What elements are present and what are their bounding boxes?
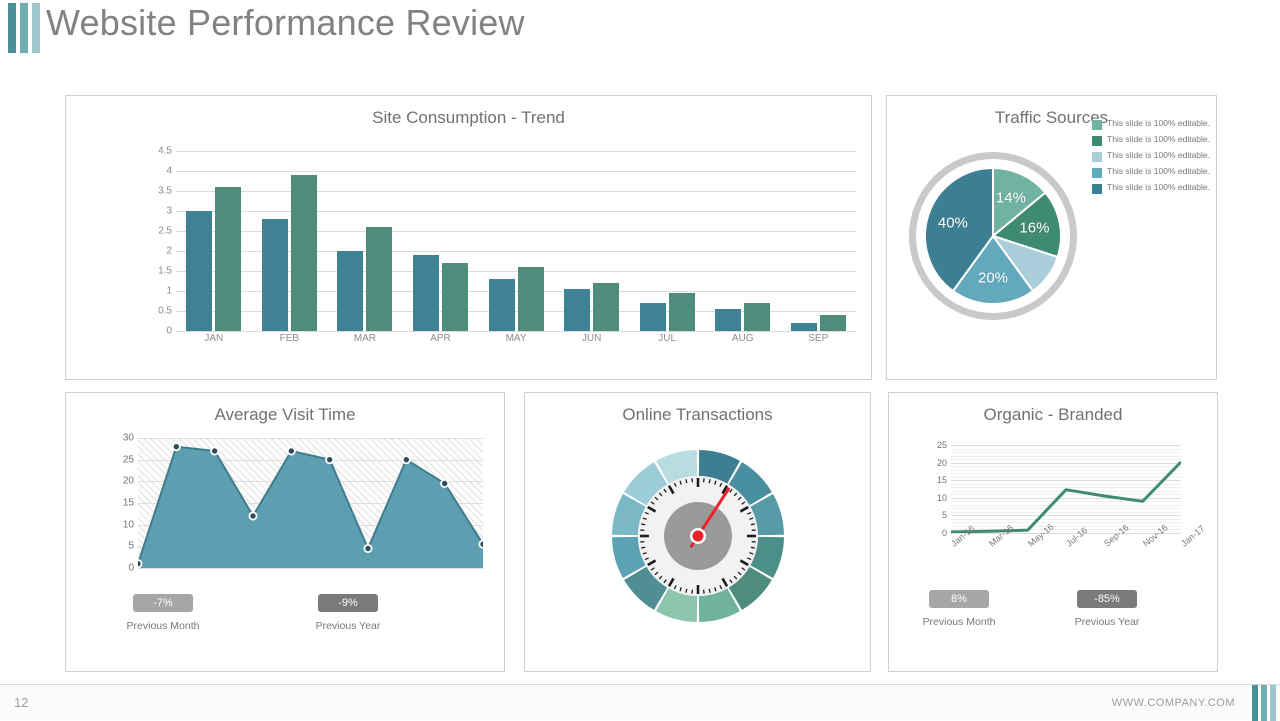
legend-item[interactable]: This slide is 100% editable. <box>1092 118 1217 130</box>
legend-label: This slide is 100% editable. <box>1107 166 1210 177</box>
stat-badge: 8% <box>929 590 989 608</box>
gauge-dial <box>610 448 786 624</box>
data-point-marker[interactable] <box>211 447 218 454</box>
card-title-average-visit-time: Average Visit Time <box>66 405 504 425</box>
gauge-minor-tick <box>685 589 686 593</box>
line-y-tick-label: 20 <box>937 458 947 468</box>
bar-x-tick-label: MAR <box>327 333 403 344</box>
pie-slice-label: 40% <box>938 214 968 231</box>
legend-item[interactable]: This slide is 100% editable. <box>1092 134 1217 146</box>
bar-y-tick-label: 2.5 <box>158 226 172 237</box>
bar[interactable] <box>518 267 544 331</box>
stat-block: -9%Previous Year <box>273 593 423 632</box>
card-average-visit-time: Average Visit Time 051015202530 -7%Previ… <box>65 392 505 672</box>
gauge-minor-tick <box>750 547 754 548</box>
bar-x-tick-label: JAN <box>176 333 252 344</box>
bar[interactable] <box>820 315 846 331</box>
stat-caption: Previous Year <box>273 620 423 632</box>
bar-y-tick-label: 4.5 <box>158 146 172 157</box>
gauge-minor-tick <box>709 589 710 593</box>
bar-x-tick-label: AUG <box>705 333 781 344</box>
bar-chart-x-axis: JANFEBMARAPRMAYJUNJULAUGSEP <box>176 333 856 344</box>
data-point-marker[interactable] <box>441 480 448 487</box>
bar-x-tick-label: SEP <box>781 333 857 344</box>
bar-x-tick-label: JUN <box>554 333 630 344</box>
bar-chart-y-axis: 00.511.522.533.544.5 <box>144 151 172 331</box>
stat-badge: -85% <box>1077 590 1137 608</box>
card-title-online-transactions: Online Transactions <box>525 405 870 425</box>
bar-y-tick-label: 0 <box>166 326 172 337</box>
legend-swatch <box>1092 136 1102 146</box>
line-chart-x-axis: Jan-16Mar-16May-16Jul-16Sep-16Nov-16Jan-… <box>951 537 1181 577</box>
bar-x-tick-label: APR <box>403 333 479 344</box>
bar-x-tick-label: JUL <box>629 333 705 344</box>
area-chart-series <box>138 438 483 568</box>
card-title-site-consumption: Site Consumption - Trend <box>66 108 871 128</box>
bar[interactable] <box>186 211 212 331</box>
stat-caption: Previous Month <box>88 620 238 632</box>
area-chart-y-axis: 051015202530 <box>108 438 134 568</box>
gridline <box>138 568 483 569</box>
bar-y-tick-label: 2 <box>166 246 172 257</box>
bar-group[interactable] <box>327 151 403 331</box>
stat-block: 8%Previous Month <box>884 589 1034 628</box>
data-point-marker[interactable] <box>403 456 410 463</box>
pie-slice-label: 20% <box>978 270 1008 287</box>
bar[interactable] <box>413 255 439 331</box>
legend-label: This slide is 100% editable. <box>1107 134 1210 145</box>
line-chart-plot: 0510152025 Jan-16Mar-16May-16Jul-16Sep-1… <box>951 445 1181 533</box>
legend-swatch <box>1092 120 1102 130</box>
bar-group[interactable] <box>705 151 781 331</box>
pie-legend: This slide is 100% editable.This slide i… <box>1092 118 1217 198</box>
data-point-marker[interactable] <box>288 447 295 454</box>
data-point-marker[interactable] <box>173 443 180 450</box>
bar-group[interactable] <box>252 151 328 331</box>
footer-accent-bar-1 <box>1252 685 1258 721</box>
page-number: 12 <box>14 695 28 710</box>
footer-accent-bar-2 <box>1261 685 1267 721</box>
bar[interactable] <box>669 293 695 331</box>
stat-caption: Previous Year <box>1032 616 1182 628</box>
gridline <box>951 533 1181 534</box>
area-y-tick-label: 30 <box>123 433 134 444</box>
line-y-tick-label: 15 <box>937 475 947 485</box>
bar[interactable] <box>564 289 590 331</box>
card-title-organic-branded: Organic - Branded <box>889 405 1217 425</box>
gridline <box>176 331 856 332</box>
gauge-minor-tick <box>685 479 686 483</box>
data-point-marker[interactable] <box>249 512 256 519</box>
legend-label: This slide is 100% editable. <box>1107 118 1210 129</box>
line-series <box>951 462 1181 532</box>
bar[interactable] <box>791 323 817 331</box>
gauge-minor-tick <box>641 524 645 525</box>
gauge-needle-cap <box>692 531 703 542</box>
legend-item[interactable]: This slide is 100% editable. <box>1092 182 1217 194</box>
data-point-marker[interactable] <box>138 560 142 567</box>
gauge-minor-tick <box>709 479 710 483</box>
bar-group[interactable] <box>403 151 479 331</box>
bar-x-tick-label: FEB <box>252 333 328 344</box>
gauge-minor-tick <box>641 547 645 548</box>
legend-swatch <box>1092 168 1102 178</box>
page-header: Website Performance Review <box>0 0 1280 58</box>
bar-chart-columns <box>176 151 856 331</box>
card-site-consumption: Site Consumption - Trend 00.511.522.533.… <box>65 95 872 380</box>
card-organic-branded: Organic - Branded 0510152025 Jan-16Mar-1… <box>888 392 1218 672</box>
pie-slice-label: 16% <box>1019 220 1049 237</box>
header-accent-bar-2 <box>20 3 28 53</box>
bar[interactable] <box>489 279 515 331</box>
card-traffic-sources: Traffic Sources 14%16%20%40% This slide … <box>886 95 1217 380</box>
bar[interactable] <box>215 187 241 331</box>
header-accent-bar-1 <box>8 3 16 53</box>
line-y-tick-label: 0 <box>942 528 947 538</box>
bar[interactable] <box>715 309 741 331</box>
bar-y-tick-label: 4 <box>166 166 172 177</box>
bar-group[interactable] <box>176 151 252 331</box>
stat-caption: Previous Month <box>884 616 1034 628</box>
bar[interactable] <box>291 175 317 331</box>
bar[interactable] <box>640 303 666 331</box>
stat-block: -85%Previous Year <box>1032 589 1182 628</box>
pie-slice-label: 14% <box>996 189 1026 206</box>
stat-badge: -9% <box>318 594 378 612</box>
card-online-transactions: Online Transactions <box>524 392 871 672</box>
footer-accent-bars <box>1252 685 1276 721</box>
page-title: Website Performance Review <box>46 2 525 44</box>
header-accent-bars <box>8 3 40 53</box>
bar[interactable] <box>366 227 392 331</box>
legend-label: This slide is 100% editable. <box>1107 182 1210 193</box>
area-y-tick-label: 20 <box>123 476 134 487</box>
line-x-tick-label: Jan-17 <box>1179 523 1207 548</box>
bar-y-tick-label: 3 <box>166 206 172 217</box>
bar[interactable] <box>262 219 288 331</box>
line-chart-series <box>951 445 1181 533</box>
gauge-minor-tick <box>750 524 754 525</box>
gauge-chart <box>610 448 786 624</box>
area-chart-plot: 051015202530 <box>138 438 483 568</box>
bar[interactable] <box>337 251 363 331</box>
bar-group[interactable] <box>478 151 554 331</box>
bar-x-tick-label: MAY <box>478 333 554 344</box>
data-point-marker[interactable] <box>364 545 371 552</box>
footer-accent-bar-3 <box>1270 685 1276 721</box>
line-y-tick-label: 25 <box>937 440 947 450</box>
bar-y-tick-label: 1.5 <box>158 266 172 277</box>
area-fill <box>138 447 483 568</box>
line-y-tick-label: 10 <box>937 493 947 503</box>
bar-group[interactable] <box>629 151 705 331</box>
bar[interactable] <box>744 303 770 331</box>
data-point-marker[interactable] <box>479 541 483 548</box>
legend-item[interactable]: This slide is 100% editable. <box>1092 150 1217 162</box>
area-y-tick-label: 0 <box>128 563 134 574</box>
header-accent-bar-3 <box>32 3 40 53</box>
bar[interactable] <box>442 263 468 331</box>
company-url: WWW.COMPANY.COM <box>1112 697 1235 709</box>
legend-swatch <box>1092 184 1102 194</box>
area-y-tick-label: 10 <box>123 519 134 530</box>
data-point-marker[interactable] <box>326 456 333 463</box>
legend-item[interactable]: This slide is 100% editable. <box>1092 166 1217 178</box>
area-y-tick-label: 15 <box>123 498 134 509</box>
bar-chart-plot: 00.511.522.533.544.5 JANFEBMARAPRMAYJUNJ… <box>144 151 856 346</box>
area-y-tick-label: 25 <box>123 454 134 465</box>
stat-block: -7%Previous Month <box>88 593 238 632</box>
legend-swatch <box>1092 152 1102 162</box>
bar[interactable] <box>593 283 619 331</box>
bar-y-tick-label: 1 <box>166 286 172 297</box>
area-y-tick-label: 5 <box>128 541 134 552</box>
stat-badge: -7% <box>133 594 193 612</box>
legend-label: This slide is 100% editable. <box>1107 150 1210 161</box>
bar-group[interactable] <box>554 151 630 331</box>
bar-y-tick-label: 3.5 <box>158 186 172 197</box>
bar-y-tick-label: 0.5 <box>158 306 172 317</box>
page-footer: 12 WWW.COMPANY.COM <box>0 684 1280 720</box>
pie-chart: 14%16%20%40% <box>905 148 1081 328</box>
bar-group[interactable] <box>781 151 857 331</box>
line-y-tick-label: 5 <box>942 510 947 520</box>
line-chart-y-axis: 0510152025 <box>927 445 947 533</box>
